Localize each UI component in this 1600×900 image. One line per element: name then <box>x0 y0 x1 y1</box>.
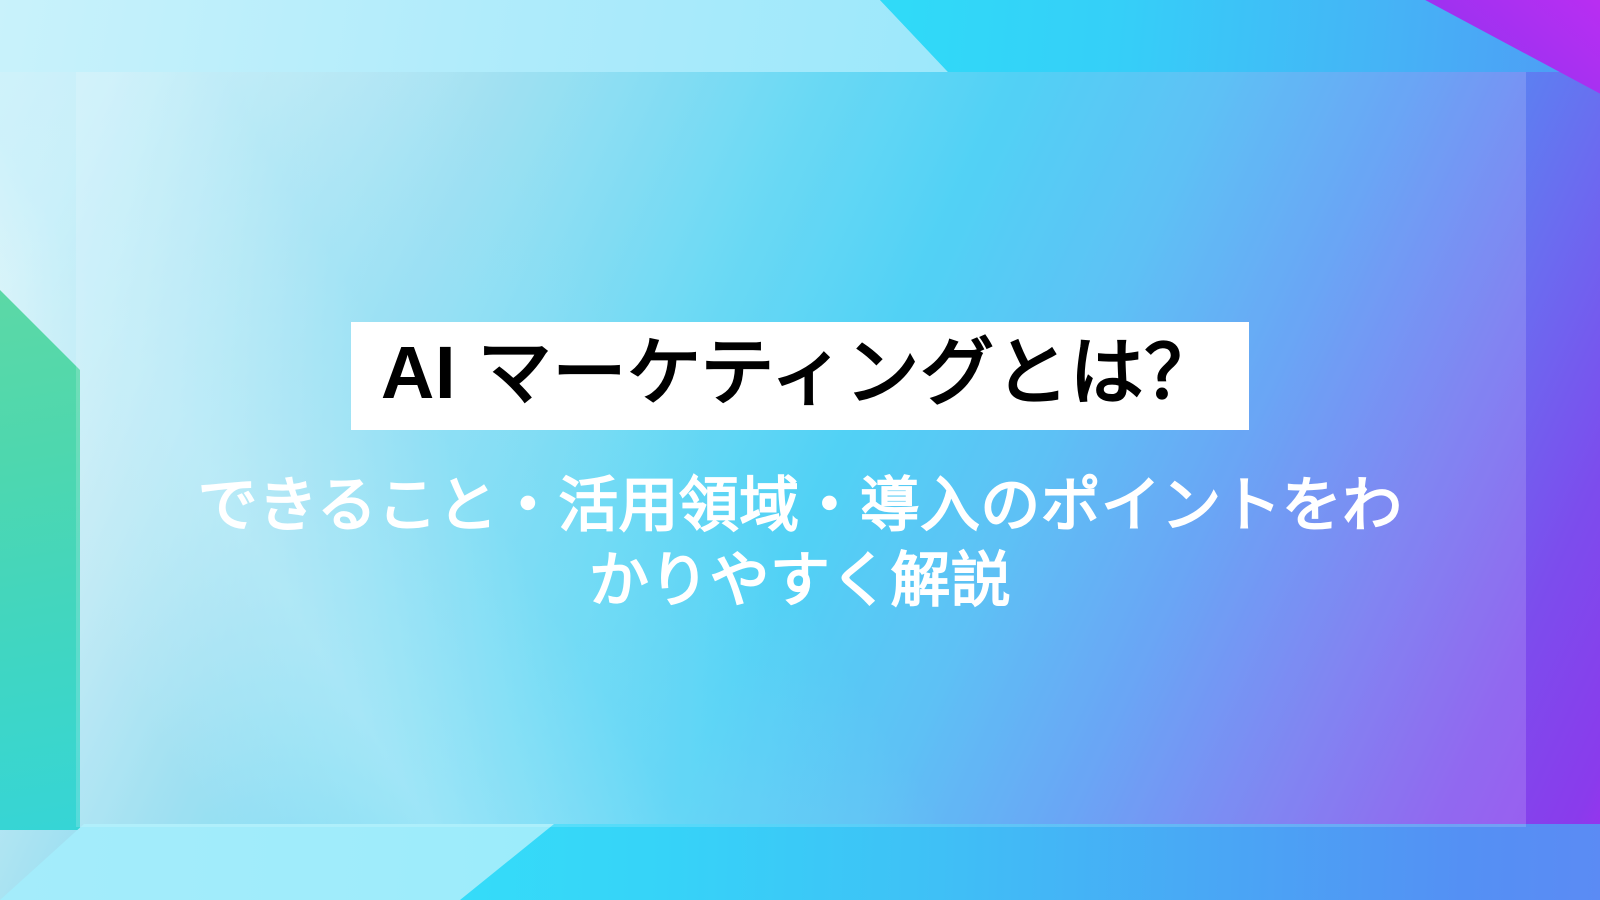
hero-content: AI マーケティングとは？ できること・活用領域・導入のポイントをわかりやすく解… <box>0 0 1600 900</box>
hero-banner: AI マーケティングとは？ できること・活用領域・導入のポイントをわかりやすく解… <box>0 0 1600 900</box>
page-title: AI マーケティングとは？ <box>381 336 1219 410</box>
page-subtitle: できること・活用領域・導入のポイントをわかりやすく解説 <box>180 468 1420 618</box>
title-highlight-box: AI マーケティングとは？ <box>351 322 1249 430</box>
